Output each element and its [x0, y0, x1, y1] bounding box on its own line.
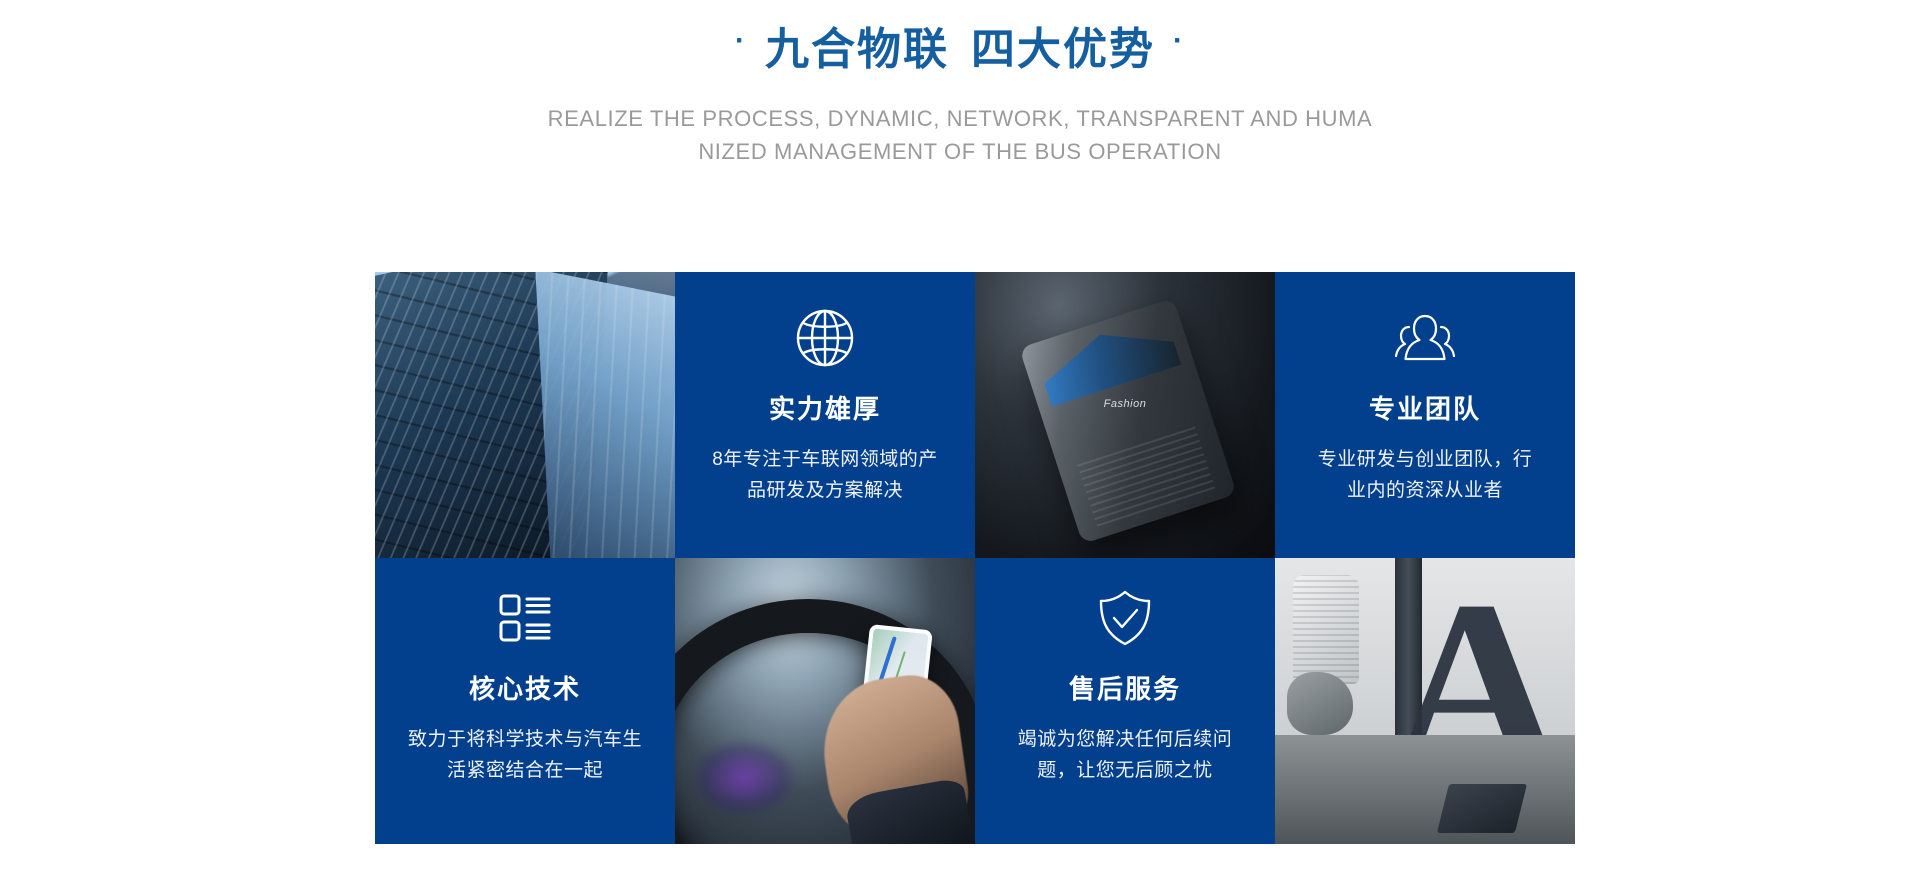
photo-glass-skyscraper — [375, 272, 675, 558]
dashboard-glow — [693, 741, 795, 815]
card-after-sales-service-desc: 竭诚为您解决任何后续问 题，让您无后顾之忧 — [1018, 725, 1233, 787]
page-title: ·九合物联四大优势· — [0, 22, 1920, 77]
photo-driving-with-phone-image — [675, 558, 975, 844]
subtitle-line-2: NIZED MANAGEMENT OF THE BUS OPERATION — [0, 136, 1920, 169]
list-icon — [489, 582, 561, 654]
card-core-technology-desc-line2: 活紧密结合在一起 — [447, 760, 603, 781]
card-after-sales-service-desc-line2: 题，让您无后顾之忧 — [1037, 760, 1213, 781]
photo-driving-with-phone — [675, 558, 975, 844]
page-title-part1: 九合物联 — [765, 22, 949, 77]
bullet-left-icon: · — [735, 22, 747, 60]
card-team-desc-line1: 专业研发与创业团队，行 — [1318, 449, 1533, 470]
card-core-technology[interactable]: 核心技术 致力于将科学技术与汽车生 活紧密结合在一起 — [375, 558, 675, 844]
card-team-title: 专业团队 — [1369, 394, 1481, 425]
card-after-sales-service-title: 售后服务 — [1069, 674, 1181, 705]
interior-stone — [1287, 672, 1353, 735]
card-after-sales-service[interactable]: 售后服务 竭诚为您解决任何后续问 题，让您无后顾之忧 — [975, 558, 1275, 844]
interior-vase — [1293, 575, 1359, 684]
advantages-grid: 实力雄厚 8年专注于车联网领域的产 品研发及方案解决 Fashion — [375, 272, 1575, 844]
card-strength-desc-line2: 品研发及方案解决 — [747, 480, 903, 501]
card-core-technology-desc-line1: 致力于将科学技术与汽车生 — [408, 729, 642, 750]
shield-check-icon — [1089, 582, 1161, 654]
section-subtitle: REALIZE THE PROCESS, DYNAMIC, NETWORK, T… — [0, 103, 1920, 168]
card-after-sales-service-desc-line1: 竭诚为您解决任何后续问 — [1018, 729, 1233, 750]
photo-interior-letter-a: A — [1275, 558, 1575, 844]
tracker-device-body — [1019, 298, 1237, 544]
photo-car-tracker-device: Fashion — [975, 272, 1275, 558]
photo-interior-letter-a-image: A — [1275, 558, 1575, 844]
interior-block — [1437, 784, 1527, 833]
interior-floor — [1275, 735, 1575, 844]
section-header: ·九合物联四大优势· REALIZE THE PROCESS, DYNAMIC,… — [0, 0, 1920, 168]
card-strength-title: 实力雄厚 — [769, 394, 881, 425]
advantages-grid-wrapper: 实力雄厚 8年专注于车联网领域的产 品研发及方案解决 Fashion — [375, 272, 1575, 844]
team-icon — [1389, 302, 1461, 374]
subtitle-line-1: REALIZE THE PROCESS, DYNAMIC, NETWORK, T… — [0, 103, 1920, 136]
card-team[interactable]: 专业团队 专业研发与创业团队，行 业内的资深从业者 — [1275, 272, 1575, 558]
photo-glass-skyscraper-image — [375, 272, 675, 558]
card-core-technology-title: 核心技术 — [469, 674, 581, 705]
tracker-device-label: Fashion — [1104, 398, 1147, 410]
card-strength-desc: 8年专注于车联网领域的产 品研发及方案解决 — [712, 445, 938, 507]
photo-car-tracker-device-image: Fashion — [975, 272, 1275, 558]
card-strength[interactable]: 实力雄厚 8年专注于车联网领域的产 品研发及方案解决 — [675, 272, 975, 558]
card-strength-desc-line1: 8年专注于车联网领域的产 — [712, 449, 938, 470]
globe-icon — [789, 302, 861, 374]
card-team-desc: 专业研发与创业团队，行 业内的资深从业者 — [1318, 445, 1533, 507]
bullet-right-icon: · — [1173, 22, 1185, 60]
advantages-section: ·九合物联四大优势· REALIZE THE PROCESS, DYNAMIC,… — [0, 0, 1920, 894]
card-team-desc-line2: 业内的资深从业者 — [1347, 480, 1503, 501]
card-core-technology-desc: 致力于将科学技术与汽车生 活紧密结合在一起 — [408, 725, 642, 787]
page-title-part2: 四大优势 — [971, 22, 1155, 77]
